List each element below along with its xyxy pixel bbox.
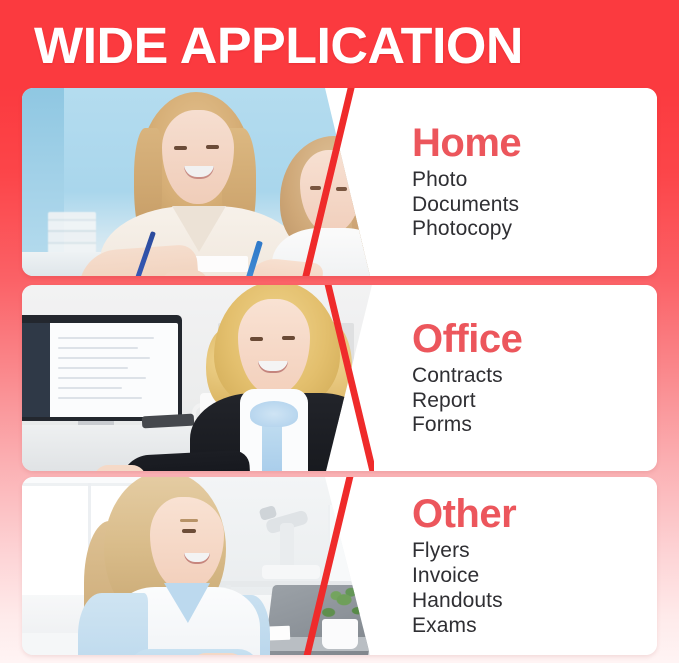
cardigan-left [78, 593, 148, 655]
wide-application-poster: WIDE APPLICATION [0, 0, 679, 663]
illustration-office-desk [22, 285, 374, 471]
woman-hand [94, 465, 146, 471]
list-item: Photocopy [412, 217, 657, 242]
card-title-home: Home [412, 122, 657, 164]
list-item: Photo [412, 168, 657, 193]
screen-line [58, 387, 122, 389]
list-item: Exams [412, 614, 657, 639]
page-title: WIDE APPLICATION [34, 14, 644, 76]
card-photo-home [22, 88, 374, 276]
blue-bow [250, 401, 298, 427]
card-item-list-home: Photo Documents Photocopy [412, 168, 657, 242]
chair [22, 633, 86, 655]
computer-monitor [22, 315, 182, 421]
list-item: Handouts [412, 589, 657, 614]
microscope-arm [280, 523, 294, 569]
woman-eye-right [206, 145, 219, 149]
screen-line [58, 397, 142, 399]
application-card-other: Other Flyers Invoice Handouts Exams [22, 477, 657, 655]
list-item: Flyers [412, 539, 657, 564]
card-panel-home: Home Photo Documents Photocopy [374, 88, 657, 276]
blue-ribbon-tail [262, 423, 282, 471]
girl-eye-right [336, 187, 347, 191]
card-photo-other [22, 477, 374, 655]
woman-eye-left [174, 146, 187, 150]
screen-line [58, 347, 138, 349]
card-panel-other: Other Flyers Invoice Handouts Exams [374, 477, 657, 655]
woman-eyebrow [180, 519, 198, 522]
screen-line [58, 357, 150, 359]
books-stack [48, 212, 96, 254]
page-title-text: WIDE APPLICATION [34, 20, 523, 71]
illustration-lab-laptop [22, 477, 374, 655]
card-item-list-office: Contracts Report Forms [412, 364, 657, 438]
list-item: Contracts [412, 364, 657, 389]
screen-line [58, 337, 154, 339]
application-card-office: Office Contracts Report Forms [22, 285, 657, 471]
list-item: Invoice [412, 564, 657, 589]
card-title-office: Office [412, 318, 657, 360]
microscope-base [262, 565, 320, 579]
screen-sidebar [22, 323, 50, 417]
list-item: Forms [412, 413, 657, 438]
girl-eye-left [310, 186, 321, 190]
screen-line [58, 377, 146, 379]
woman-eye-left [250, 337, 263, 341]
card-photo-office [22, 285, 374, 471]
card-panel-office: Office Contracts Report Forms [374, 285, 657, 471]
card-item-list-other: Flyers Invoice Handouts Exams [412, 539, 657, 638]
illustration-home-study [22, 88, 374, 276]
list-item: Report [412, 389, 657, 414]
screen-line [58, 367, 128, 369]
application-card-home: Home Photo Documents Photocopy [22, 88, 657, 276]
monitor-screen [22, 323, 178, 417]
card-title-other: Other [412, 493, 657, 535]
list-item: Documents [412, 193, 657, 218]
woman-arms [128, 649, 260, 655]
potted-plant-pot [322, 619, 358, 649]
woman-eye-right [282, 336, 295, 340]
woman-eye [182, 529, 196, 533]
